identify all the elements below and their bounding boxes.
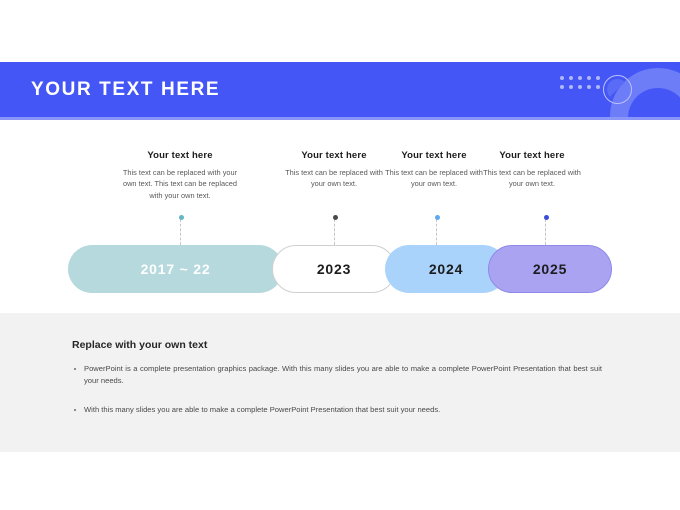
bullet-item: With this many slides you are able to ma… xyxy=(72,404,602,416)
timeline-connector-dot-icon xyxy=(435,215,440,220)
timeline-connector-dot-icon xyxy=(544,215,549,220)
timeline-callout: Your text hereThis text can be replaced … xyxy=(283,150,385,190)
decorative-dot-icon xyxy=(596,76,600,80)
decorative-dot-icon xyxy=(587,85,591,89)
timeline-connector-dot-icon xyxy=(333,215,338,220)
decorative-dot-icon xyxy=(587,76,591,80)
timeline-pill[interactable]: 2023 xyxy=(272,245,396,293)
timeline-callout-body: This text can be replaced with your own … xyxy=(383,167,485,190)
timeline-callout-title: Your text here xyxy=(481,150,583,161)
decorative-dot-icon xyxy=(569,85,573,89)
timeline-callout-body: This text can be replaced with your own … xyxy=(481,167,583,190)
timeline-callout-body: This text can be replaced with your own … xyxy=(118,167,242,201)
decorative-dot-icon xyxy=(578,76,582,80)
decorative-ring-outline-icon xyxy=(603,75,632,104)
timeline-connector-line xyxy=(436,219,437,245)
bullet-item: PowerPoint is a complete presentation gr… xyxy=(72,363,602,388)
bottom-panel-title: Replace with your own text xyxy=(72,339,207,351)
timeline-callout: Your text hereThis text can be replaced … xyxy=(481,150,583,190)
timeline-callout-title: Your text here xyxy=(118,150,242,161)
decorative-dot-grid-icon xyxy=(560,76,602,91)
header-underline xyxy=(0,117,680,120)
decorative-dot-icon xyxy=(596,85,600,89)
timeline-callout: Your text hereThis text can be replaced … xyxy=(383,150,485,190)
header-bar: YOUR TEXT HERE xyxy=(0,62,680,117)
timeline-connector-line xyxy=(334,219,335,245)
bullet-list: PowerPoint is a complete presentation gr… xyxy=(72,363,602,432)
timeline-pill[interactable]: 2017 ~ 22 xyxy=(68,245,283,293)
timeline-pills: 2017 ~ 22202320242025 xyxy=(0,245,680,300)
timeline-callout-title: Your text here xyxy=(283,150,385,161)
decorative-dot-icon xyxy=(560,85,564,89)
timeline-pill[interactable]: 2025 xyxy=(488,245,612,293)
decorative-dot-icon xyxy=(569,76,573,80)
decorative-dot-icon xyxy=(560,76,564,80)
timeline-connector-dot-icon xyxy=(179,215,184,220)
bottom-panel: Replace with your own text PowerPoint is… xyxy=(0,313,680,452)
timeline-connector-line xyxy=(545,219,546,245)
page-title: YOUR TEXT HERE xyxy=(31,79,220,101)
timeline-callout-title: Your text here xyxy=(383,150,485,161)
timeline-callouts: Your text hereThis text can be replaced … xyxy=(0,150,680,245)
timeline-callout: Your text hereThis text can be replaced … xyxy=(118,150,242,201)
timeline-connector-line xyxy=(180,219,181,245)
timeline-callout-body: This text can be replaced with your own … xyxy=(283,167,385,190)
slide-canvas: YOUR TEXT HERE Your text hereThis text c… xyxy=(0,0,680,510)
decorative-dot-icon xyxy=(578,85,582,89)
timeline: Your text hereThis text can be replaced … xyxy=(0,150,680,300)
